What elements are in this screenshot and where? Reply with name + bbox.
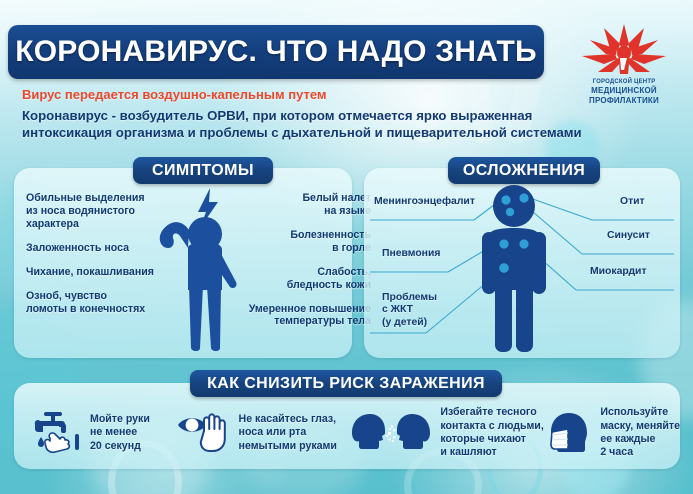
symptom-text-line: из носа водянистого <box>26 205 166 218</box>
complication-text-line: Пневмония <box>382 248 440 260</box>
prevention-text-line: ее каждые <box>600 433 680 446</box>
prevention-items: Мойте руки не менее 20 секунд Не касайте… <box>14 396 680 470</box>
list-item: Чихание, покашливания <box>26 266 166 279</box>
complication-label-meningoencephalitis: Менингоэнцефалит <box>374 196 475 208</box>
symptom-text-line: Озноб, чувство <box>26 290 166 303</box>
logo-line-1: ГОРОДСКОЙ ЦЕНТР <box>560 79 688 86</box>
prevention-text-line: Мойте руки <box>90 413 150 426</box>
list-item: Обильные выделения из носа водянистого х… <box>26 192 166 231</box>
symptoms-left-list: Обильные выделения из носа водянистого х… <box>26 192 166 326</box>
list-item: Озноб, чувство ломоты в конечностях <box>26 290 166 316</box>
complication-label-myocarditis: Миокардит <box>590 266 647 278</box>
prevention-text-line: 2 часа <box>600 446 680 459</box>
complication-label-sinusitis: Синусит <box>607 230 650 242</box>
complication-label-pneumonia: Пневмония <box>382 248 440 260</box>
starburst-icon <box>560 22 688 78</box>
complication-text-line: Синусит <box>607 230 650 242</box>
symptoms-right-list: Белый налет на языке Болезненность в гор… <box>247 192 371 339</box>
complication-text-line: Менингоэнцефалит <box>374 196 475 208</box>
symptom-text-line: Умеренное повышение <box>247 303 371 316</box>
symptom-text-line: Чихание, покашливания <box>26 266 166 279</box>
complication-text-line: Отит <box>620 196 645 208</box>
list-item: Умеренное повышение температуры тела <box>247 303 371 329</box>
symptom-text-line: на языке <box>247 205 371 218</box>
list-item: Заложенность носа <box>26 242 166 255</box>
intro-body-line-2: интоксикация организма и проблемы с дыха… <box>22 124 662 141</box>
intro-highlight: Вирус передается воздушно-капельным путе… <box>22 88 662 102</box>
prevention-text-line: Не касайтесь глаз, <box>239 413 337 426</box>
prevention-item-dont-touch-face: Не касайтесь глаз, носа или рта немытыми… <box>176 409 349 457</box>
prevention-text-line: контакта с людьми, <box>440 420 543 433</box>
list-item: Болезненность в горле <box>247 229 371 255</box>
prevention-item-avoid-contact: Избегайте тесного контакта с людьми, кот… <box>348 406 543 459</box>
symptom-text-line: Обильные выделения <box>26 192 166 205</box>
intro-body-line-1: Коронавирус - возбудитель ОРВИ, при кото… <box>22 107 662 124</box>
symptom-text-line: в горле <box>247 242 371 255</box>
intro-body: Коронавирус - возбудитель ОРВИ, при кото… <box>22 107 662 141</box>
handwash-faucet-icon <box>28 408 82 458</box>
symptom-text-line: Слабость, <box>247 266 371 279</box>
prevention-text-line: 20 секунд <box>90 440 150 453</box>
person-headache-icon <box>148 186 252 354</box>
list-item: Слабость, бледность кожи <box>247 266 371 292</box>
header-banner: КОРОНАВИРУС. ЧТО НАДО ЗНАТЬ <box>8 25 544 79</box>
eye-hand-icon <box>176 409 232 457</box>
symptom-text-line: бледность кожи <box>247 279 371 292</box>
prevention-item-use-mask: Используйте маску, меняйте ее каждые 2 ч… <box>543 406 680 459</box>
symptom-text-line: температуры тела <box>247 315 371 328</box>
prevention-text-line: носа или рта <box>239 426 337 439</box>
two-heads-sneeze-icon <box>348 409 434 457</box>
complication-text-line: Проблемы <box>382 292 437 304</box>
prevention-text-line: маску, меняйте <box>600 420 680 433</box>
prevention-item-wash-hands: Мойте руки не менее 20 секунд <box>14 408 176 458</box>
symptom-text-line: ломоты в конечностях <box>26 303 166 316</box>
prevention-text: Используйте маску, меняйте ее каждые 2 ч… <box>600 406 680 459</box>
prevention-text-line: и кашляют <box>440 446 543 459</box>
complication-text-line: Миокардит <box>590 266 647 278</box>
intro-block: Вирус передается воздушно-капельным путе… <box>22 88 662 142</box>
head-mask-icon <box>543 409 593 457</box>
symptom-text-line: Болезненность <box>247 229 371 242</box>
complication-text-line: (у детей) <box>382 317 437 329</box>
prevention-text: Не касайтесь глаз, носа или рта немытыми… <box>239 413 337 453</box>
prevention-text: Мойте руки не менее 20 секунд <box>90 413 150 453</box>
prevention-text: Избегайте тесного контакта с людьми, кот… <box>440 406 543 459</box>
prevention-text-line: Избегайте тесного <box>440 406 543 419</box>
complication-text-line: с ЖКТ <box>382 304 437 316</box>
symptoms-title: СИМПТОМЫ <box>133 157 273 184</box>
prevention-text-line: Используйте <box>600 406 680 419</box>
prevention-text-line: немытыми руками <box>239 440 337 453</box>
infographic-poster: КОРОНАВИРУС. ЧТО НАДО ЗНАТЬ ГОРОД <box>0 0 693 494</box>
prevention-text-line: которые чихают <box>440 433 543 446</box>
list-item: Белый налет на языке <box>247 192 371 218</box>
prevention-title: КАК СНИЗИТЬ РИСК ЗАРАЖЕНИЯ <box>190 370 502 397</box>
complication-label-gi-problems: Проблемы с ЖКТ (у детей) <box>382 292 437 329</box>
prevention-text-line: не менее <box>90 426 150 439</box>
complication-label-otitis: Отит <box>620 196 645 208</box>
symptom-text-line: Белый налет <box>247 192 371 205</box>
symptom-text-line: Заложенность носа <box>26 242 166 255</box>
page-title: КОРОНАВИРУС. ЧТО НАДО ЗНАТЬ <box>8 25 544 79</box>
symptom-text-line: характера <box>26 218 166 231</box>
